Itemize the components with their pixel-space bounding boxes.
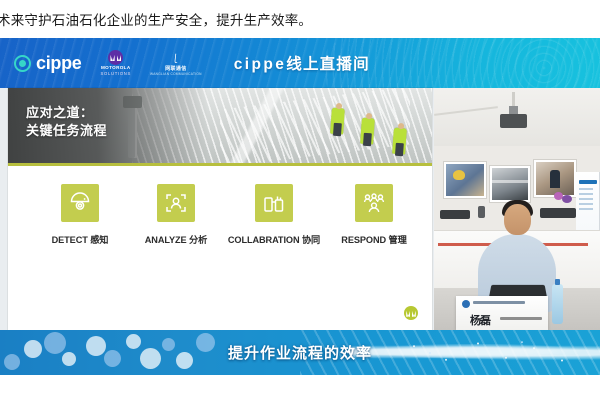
footer-whitespace <box>0 375 600 400</box>
workflow-step-detect-label: DETECT 感知 <box>32 232 128 246</box>
slide-title: 应对之道： 关键任务流程 <box>26 104 107 141</box>
header-title: cippe线上直播间 <box>234 52 370 74</box>
wall-poster-industrial <box>490 166 530 202</box>
workflow-step-collabration-label: COLLABRATION 协同 <box>226 232 322 246</box>
cippe-ring-icon <box>14 55 31 72</box>
nameplate-company-text <box>473 301 525 304</box>
speaker-title <box>500 317 542 320</box>
presenter-head <box>504 204 531 235</box>
wanglian-subwordmark: WANGLIAN COMMUNICATION <box>150 73 202 76</box>
slide-title-line2: 关键任务流程 <box>26 122 107 140</box>
bottom-decorative-band: 提升作业流程的效率 <box>0 330 600 375</box>
nameplate-logo-icon <box>462 300 470 308</box>
live-stream-screenshot: 术来守护石油石化企业的生产安全，提升生产效率。 cippe MOTOROLA S… <box>0 0 600 400</box>
header-title-cn: 线上直播间 <box>286 56 370 73</box>
live-room-header: cippe MOTOROLA SOLUTIONS ι 网联通信 WANGLIAN… <box>0 38 600 88</box>
cippe-wordmark: cippe <box>36 53 82 74</box>
top-caption-bar: 术来守护石油石化企业的生产安全，提升生产效率。 <box>0 0 600 38</box>
speaker-nameplate: 杨磊 <box>456 296 548 330</box>
presenter-video-feed[interactable]: 杨磊 <box>434 88 600 330</box>
logo-cippe: cippe <box>14 53 82 74</box>
motorola-subwordmark: SOLUTIONS <box>101 72 132 76</box>
phone-radio-icon <box>255 184 293 222</box>
top-caption-text: 术来守护石油石化企业的生产安全，提升生产效率。 <box>0 9 312 29</box>
speaker-name: 杨磊 <box>470 312 490 328</box>
presentation-slide[interactable]: 应对之道： 关键任务流程 DETECT 感知 <box>8 88 432 330</box>
motorola-wordmark: MOTOROLA <box>101 66 131 71</box>
face-recognition-icon <box>157 184 195 222</box>
slide-motorola-batwing-icon <box>404 306 418 320</box>
workflow-step-respond-label: RESPOND 管理 <box>326 232 422 246</box>
banner-accent-rule <box>8 163 432 166</box>
team-group-icon <box>355 184 393 222</box>
logo-motorola-solutions: MOTOROLA SOLUTIONS <box>101 50 132 76</box>
workflow-step-analyze[interactable]: ANALYZE 分析 <box>128 184 224 246</box>
workflow-step-collabration[interactable]: COLLABRATION 协同 <box>226 184 322 246</box>
workflow-step-analyze-label: ANALYZE 分析 <box>128 232 224 246</box>
workflow-step-detect[interactable]: DETECT 感知 <box>32 184 128 246</box>
stage-area: 应对之道： 关键任务流程 DETECT 感知 <box>0 88 600 330</box>
workflow-step-respond[interactable]: RESPOND 管理 <box>326 184 422 246</box>
workflow-step-row: DETECT 感知 ANALYZE 分析 <box>8 184 432 269</box>
bottom-caption-text: 提升作业流程的效率 <box>228 342 372 363</box>
slide-banner: 应对之道： 关键任务流程 <box>8 88 432 166</box>
display-device-2 <box>540 208 576 218</box>
slide-title-line1: 应对之道： <box>26 104 107 122</box>
display-device-3 <box>478 206 485 218</box>
logo-wanglian: ι 网联通信 WANGLIAN COMMUNICATION <box>150 50 202 76</box>
header-title-en: cippe <box>234 56 286 73</box>
wanglian-mark-icon: ι <box>172 50 180 66</box>
motorola-batwing-icon <box>108 50 123 65</box>
bottom-caption: 提升作业流程的效率 <box>0 330 600 375</box>
banner-worker-2 <box>360 118 375 145</box>
display-device-1 <box>440 210 470 219</box>
ceiling-projector-icon <box>500 114 527 128</box>
banner-worker-1 <box>330 108 345 135</box>
banner-worker-3 <box>392 128 407 155</box>
dome-camera-icon <box>61 184 99 222</box>
water-bottle <box>552 284 563 324</box>
wall-poster-worker <box>444 162 486 198</box>
